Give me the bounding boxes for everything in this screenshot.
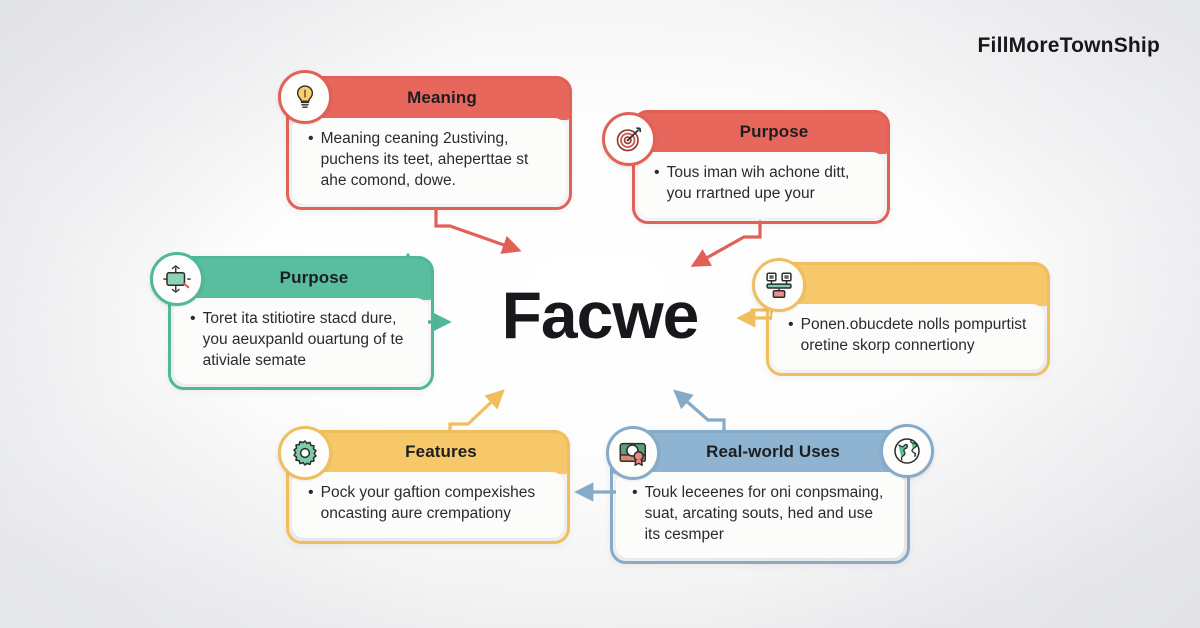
bullet-item: • Pock your gaftion compexishes oncastin… bbox=[308, 483, 550, 525]
globe-icon bbox=[880, 424, 934, 478]
card-features[interactable]: Features • Pock your gaftion compexishes… bbox=[286, 430, 570, 544]
card-purpose-left-title: Purpose bbox=[168, 268, 434, 288]
card-features-text: Pock your gaftion compexishes oncasting … bbox=[321, 483, 550, 525]
connector-purpose-top-to-center bbox=[694, 222, 760, 265]
card-purpose-left-body: • Toret ita stitiotire stacd dure, you a… bbox=[174, 298, 428, 384]
connector-realworld-to-center bbox=[676, 392, 724, 430]
center-keyword: Facwe bbox=[470, 277, 730, 353]
card-purpose-top-body: • Tous iman wih achone ditt, you rrartne… bbox=[638, 152, 884, 218]
bullet-marker: • bbox=[308, 483, 314, 525]
badge-card-icon bbox=[606, 426, 660, 480]
bullet-item: • Tous iman wih achone ditt, you rrartne… bbox=[654, 163, 870, 205]
card-purpose-left[interactable]: Purpose • Toret ita stitiotire stacd dur… bbox=[168, 256, 434, 390]
card-components-body: • Ponen.obucdete nolls pompurtist oretin… bbox=[772, 304, 1044, 370]
connector-meaning-to-center bbox=[436, 209, 518, 250]
target-icon bbox=[602, 112, 656, 166]
card-realworld-uses[interactable]: Real-world Uses • Touk leceenes for oni … bbox=[610, 430, 910, 564]
card-purpose-left-text: Toret ita stitiotire stacd dure, you aeu… bbox=[203, 309, 414, 371]
bullet-item: • Meaning ceaning 2ustiving, puchens its… bbox=[308, 129, 552, 191]
bullet-marker: • bbox=[308, 129, 314, 191]
card-purpose-top[interactable]: Purpose • Tous iman wih achone ditt, you… bbox=[632, 110, 890, 224]
card-components-text: Ponen.obucdete nolls pompurtist oretine … bbox=[801, 315, 1030, 357]
bullet-marker: • bbox=[632, 483, 638, 545]
card-meaning-body: • Meaning ceaning 2ustiving, puchens its… bbox=[292, 118, 566, 204]
card-components[interactable]: • Ponen.obucdete nolls pompurtist oretin… bbox=[766, 262, 1050, 376]
gear-icon bbox=[278, 426, 332, 480]
card-purpose-top-title: Purpose bbox=[632, 122, 890, 142]
monitor-icon bbox=[150, 252, 204, 306]
bullet-item: • Ponen.obucdete nolls pompurtist oretin… bbox=[788, 315, 1030, 357]
card-purpose-top-text: Tous iman wih achone ditt, you rrartned … bbox=[667, 163, 870, 205]
card-realworld-body: • Touk leceenes for oni conpsmaing, suat… bbox=[616, 472, 904, 558]
bullet-marker: • bbox=[788, 315, 794, 357]
card-purpose-top-header: Purpose bbox=[632, 110, 890, 154]
brand-watermark: FillMoreTownShip bbox=[978, 34, 1160, 58]
card-components-header bbox=[766, 262, 1050, 306]
bullet-item: • Toret ita stitiotire stacd dure, you a… bbox=[190, 309, 414, 371]
card-features-body: • Pock your gaftion compexishes oncastin… bbox=[292, 472, 564, 538]
bullet-marker: • bbox=[190, 309, 196, 371]
card-realworld-text: Touk leceenes for oni conpsmaing, suat, … bbox=[645, 483, 890, 545]
bullet-marker: • bbox=[654, 163, 660, 205]
card-meaning-text: Meaning ceaning 2ustiving, puchens its t… bbox=[321, 129, 552, 191]
bullet-item: • Touk leceenes for oni conpsmaing, suat… bbox=[632, 483, 890, 545]
lightbulb-icon bbox=[278, 70, 332, 124]
card-purpose-left-header: Purpose bbox=[168, 256, 434, 300]
card-meaning[interactable]: Meaning • Meaning ceaning 2ustiving, puc… bbox=[286, 76, 572, 210]
components-icon bbox=[752, 258, 806, 312]
diagram-canvas: FillMoreTownShip bbox=[0, 0, 1200, 628]
